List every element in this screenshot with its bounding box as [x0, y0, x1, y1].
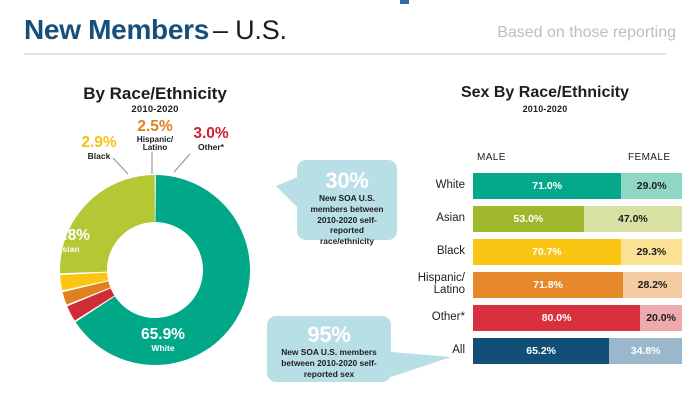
donut-label-white: 65.9% White — [108, 327, 218, 352]
bar-row-label: Hispanic/Latino — [410, 273, 473, 297]
donut-chart-years: 2010-2020 — [0, 104, 310, 115]
page-title-sub: – U.S. — [213, 15, 287, 46]
page-header: New Members– U.S. Based on those reporti… — [0, 0, 690, 62]
bar-male-segment: 70.7% — [473, 239, 621, 265]
infographic-page: New Members– U.S. Based on those reporti… — [0, 0, 690, 403]
donut-label-asian-name: Asian — [18, 245, 118, 254]
top-edge-fragment — [400, 0, 409, 4]
donut-label-asian-value: 25.8% — [18, 228, 118, 244]
bar-male-segment: 71.8% — [473, 272, 623, 298]
bar-female-segment: 20.0% — [640, 305, 682, 331]
bar-row: Black70.7%29.3% — [410, 238, 682, 266]
bar-chart-years: 2010-2020 — [400, 104, 690, 114]
bar-row-label: White — [410, 180, 473, 192]
bar-female-segment: 34.8% — [609, 338, 682, 364]
bar-female-segment: 28.2% — [623, 272, 682, 298]
callout-race-value: 30% — [297, 169, 397, 192]
leader-line-black — [113, 158, 128, 174]
donut-label-white-value: 65.9% — [108, 327, 218, 343]
header-divider — [24, 53, 666, 55]
bar-track: 53.0%47.0% — [473, 206, 682, 232]
bar-male-segment: 71.0% — [473, 173, 621, 199]
bar-row-label: Asian — [410, 213, 473, 225]
bar-row: Hispanic/Latino71.8%28.2% — [410, 271, 682, 299]
callout-sex-value: 95% — [267, 323, 391, 346]
callout-sex: 95% New SOA U.S. members between 2010-20… — [267, 316, 391, 382]
bar-axis-label-male: MALE — [477, 152, 506, 163]
donut-label-asian: 25.8% Asian — [18, 228, 118, 253]
bar-female-segment: 47.0% — [584, 206, 682, 232]
bar-female-segment: 29.3% — [621, 239, 682, 265]
callout-race-ethnicity: 30% New SOA U.S. members between 2010-20… — [297, 160, 397, 240]
bar-male-segment: 80.0% — [473, 305, 640, 331]
leader-line-other — [174, 154, 190, 172]
bar-track: 71.0%29.0% — [473, 173, 682, 199]
bar-row: White71.0%29.0% — [410, 172, 682, 200]
bar-chart-title: Sex By Race/Ethnicity — [400, 84, 690, 102]
page-title: New Members– U.S. — [24, 14, 287, 46]
bar-track: 65.2%34.8% — [473, 338, 682, 364]
bar-track: 80.0%20.0% — [473, 305, 682, 331]
donut-chart-title: By Race/Ethnicity — [0, 84, 310, 104]
bar-male-segment: 65.2% — [473, 338, 609, 364]
bar-row-label: Other* — [410, 312, 473, 324]
bar-row: Asian53.0%47.0% — [410, 205, 682, 233]
page-title-main: New Members — [24, 14, 209, 46]
donut-label-hispanic-value: 2.5% — [122, 119, 188, 135]
bar-row-label: Black — [410, 246, 473, 258]
bar-row: Other*80.0%20.0% — [410, 304, 682, 332]
bar-male-segment: 53.0% — [473, 206, 584, 232]
bar-row: All65.2%34.8% — [410, 337, 682, 365]
donut-label-other-value: 3.0% — [180, 126, 242, 142]
bar-female-segment: 29.0% — [621, 173, 682, 199]
header-note: Based on those reporting — [497, 24, 676, 42]
callout-sex-text: New SOA U.S. members between 2010-2020 s… — [267, 347, 391, 379]
bar-track: 70.7%29.3% — [473, 239, 682, 265]
donut-label-white-name: White — [108, 344, 218, 353]
callout-race-text: New SOA U.S. members between 2010-2020 s… — [297, 193, 397, 247]
bar-row-label: All — [410, 345, 473, 357]
bar-track: 71.8%28.2% — [473, 272, 682, 298]
donut-leader-lines — [95, 148, 225, 194]
stacked-bar-chart: White71.0%29.0%Asian53.0%47.0%Black70.7%… — [410, 172, 682, 370]
bar-axis-label-female: FEMALE — [628, 152, 670, 163]
